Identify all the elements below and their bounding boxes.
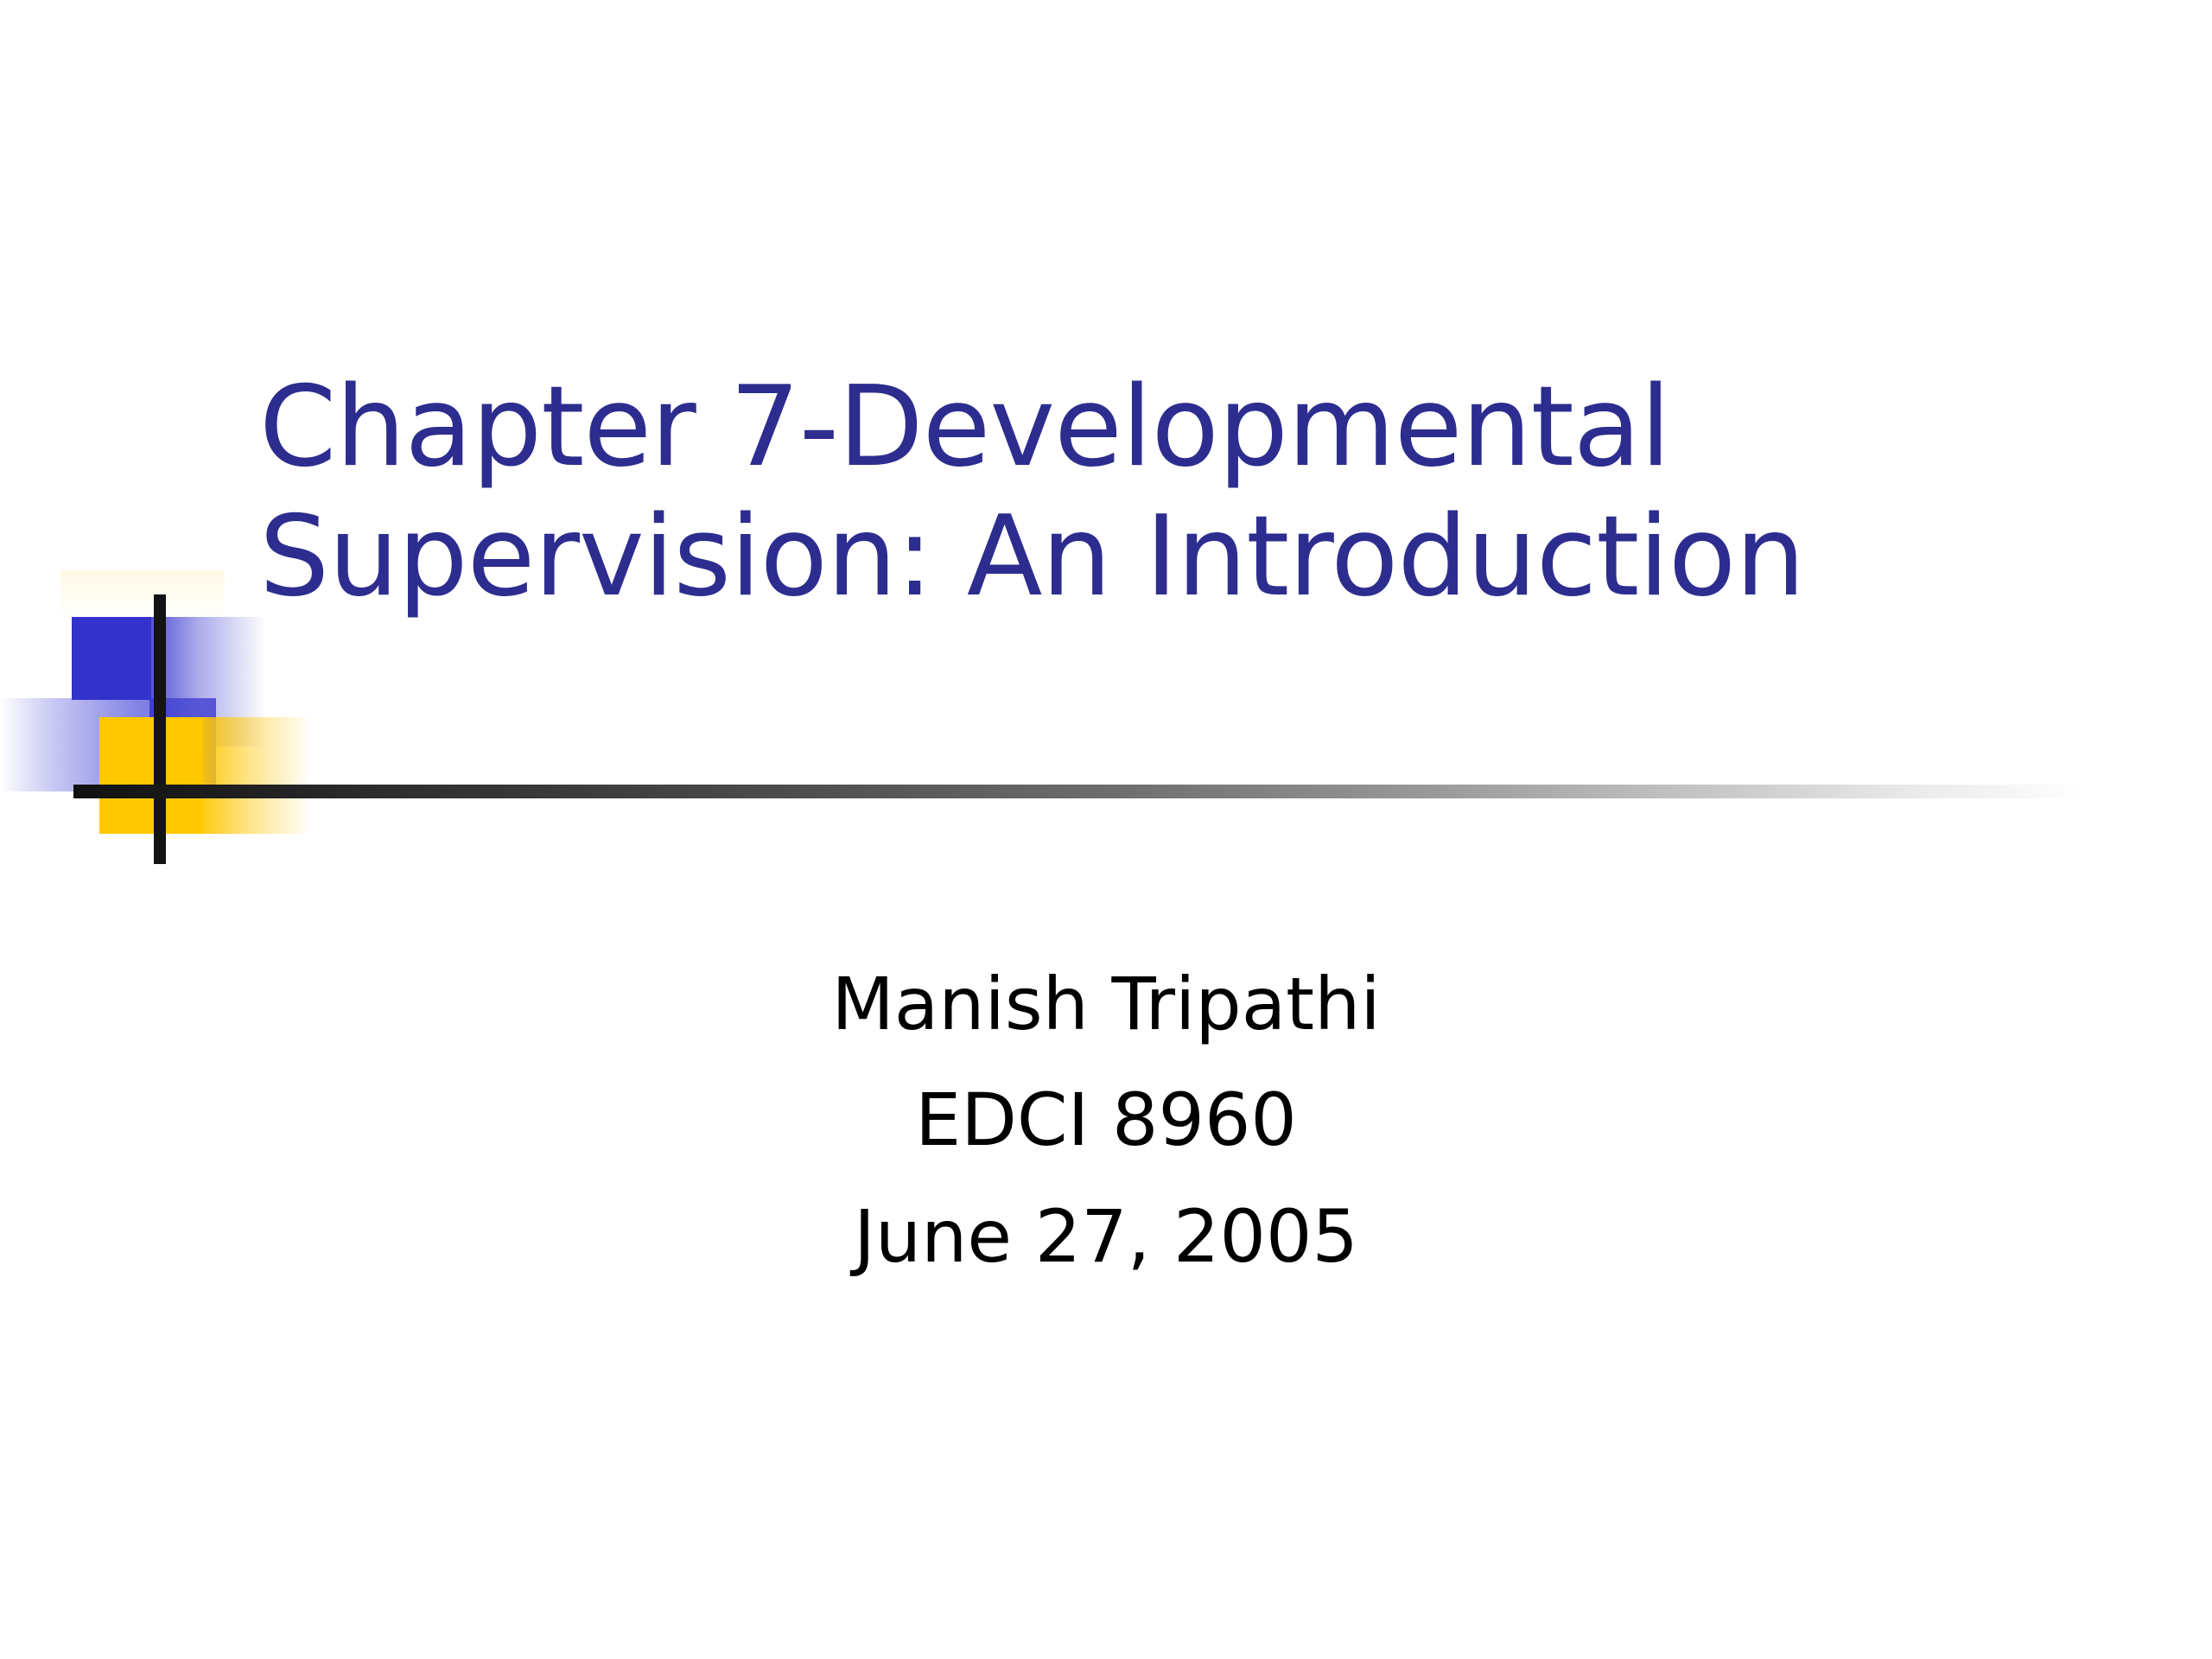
motif-blue-band — [0, 698, 216, 791]
subtitle-date: June 27, 2005 — [372, 1179, 1840, 1294]
motif-yellow-square — [99, 717, 203, 834]
subtitle-author: Manish Tripathi — [372, 946, 1840, 1062]
motif-vertical-rule — [154, 594, 166, 864]
motif-blue-glow — [149, 617, 266, 747]
motif-blue-square — [72, 617, 151, 700]
slide-subtitle: Manish Tripathi EDCI 8960 June 27, 2005 — [372, 946, 1840, 1294]
title-divider-rule — [73, 785, 2087, 798]
subtitle-course: EDCI 8960 — [372, 1062, 1840, 1178]
slide-title: Chapter 7-Developmental Supervision: An … — [259, 363, 2126, 622]
motif-yellow-glow — [199, 717, 311, 834]
title-line-1: Chapter 7-Developmental — [259, 363, 2126, 493]
slide-canvas: Chapter 7-Developmental Supervision: An … — [0, 0, 2212, 1659]
title-line-2: Supervision: An Introduction — [259, 493, 2126, 622]
motif-cream-wash — [60, 570, 225, 622]
